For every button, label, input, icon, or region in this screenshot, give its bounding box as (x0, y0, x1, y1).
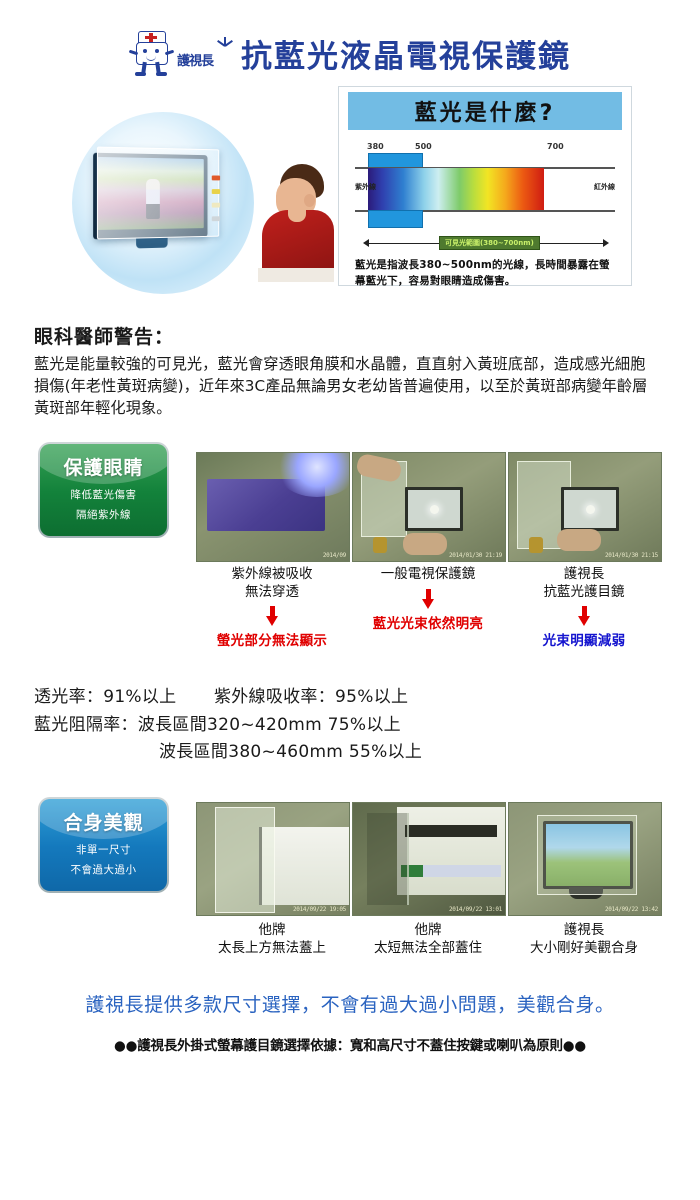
warning-heading: 眼科醫師警告： (34, 322, 654, 349)
brand-logo: 護視長 (129, 31, 235, 75)
page-header: 護視長 抗藍光液晶電視保護鏡 (0, 22, 700, 84)
warning-body: 藍光是能量較強的可見光，藍光會穿透眼角膜和水晶體，直直射入黃班底部，造成感光細胞… (34, 354, 654, 420)
badge-eye-sub2: 隔絕紫外線 (76, 507, 131, 522)
product-page: 護視長 抗藍光液晶電視保護鏡 藍光是什麼? 380 500 (0, 0, 700, 1200)
hero-illustration (62, 108, 332, 298)
photo-timestamp: 2014/09/22 13:01 (449, 906, 502, 913)
down-arrow-icon (578, 606, 591, 626)
visible-range-indicator: 可見光範圍(380~700nm) (355, 238, 615, 250)
caption-perfect-fit: 護視長 大小剛好美觀合身 (508, 922, 660, 957)
photo-timestamp: 2014/09 (323, 552, 346, 559)
photo-timestamp: 2014/01/30 21:15 (605, 552, 658, 559)
badge-perfect-fit: 合身美觀 非單一尺寸 不會過大過小 (38, 797, 169, 893)
caption-line2: 抗藍光護目鏡 (508, 584, 660, 602)
photo-ordinary-protector: 2014/01/30 21:19 (352, 452, 506, 562)
caption-line2: 太長上方無法蓋上 (196, 940, 348, 958)
caption-line1: 他牌 (196, 922, 348, 940)
blue-light-panel-title: 藍光是什麼? (348, 92, 622, 130)
caption-uv-absorbed: 紫外線被吸收 無法穿透 螢光部分無法顯示 (196, 566, 348, 649)
screen-protector-overlay (97, 147, 219, 240)
footer-tagline: 護視長提供多款尺寸選擇，不會有過大過小問題，美觀合身。 (0, 990, 700, 1017)
photo-banknote-uv: 2014/09 (196, 452, 350, 562)
photo-timestamp: 2014/09/22 19:05 (293, 906, 346, 913)
caption-line2: 無法穿透 (196, 584, 348, 602)
page-title: 抗藍光液晶電視保護鏡 (241, 31, 571, 76)
footer-selection-rule: ●●護視長外掛式螢幕護目鏡選擇依據：寬和高尺寸不蓋住按鍵或喇叭為原則●● (0, 1034, 700, 1054)
blue-light-title-text: 藍光是什麼? (415, 95, 556, 127)
caption-line1: 紫外線被吸收 (196, 566, 348, 584)
caption-result: 螢光部分無法顯示 (196, 629, 348, 649)
caption-line1: 護視長 (508, 566, 660, 584)
caption-line2: 大小剛好美觀合身 (508, 940, 660, 958)
badge-eye-protection: 保護眼睛 降低藍光傷害 隔絕紫外線 (38, 442, 169, 538)
visible-range-tag: 可見光範圍(380~700nm) (439, 236, 540, 250)
caption-line1: 護視長 (508, 922, 660, 940)
caption-result: 光束明顯減弱 (508, 629, 660, 649)
doctor-warning-block: 眼科醫師警告： 藍光是能量較強的可見光，藍光會穿透眼角膜和水晶體，直直射入黃班底… (34, 322, 654, 420)
uv-label: 紫外線 (355, 182, 376, 192)
caption-line1: 他牌 (352, 922, 504, 940)
ir-label: 紅外線 (594, 182, 615, 192)
spectrum-tick-380: 380 (367, 142, 384, 151)
sparkle-icon (215, 37, 235, 57)
photo-anti-blue-protector: 2014/01/30 21:15 (508, 452, 662, 562)
badge-fit-title: 合身美觀 (63, 808, 143, 835)
photo-other-brand-too-long: 2014/09/22 19:05 (196, 802, 350, 916)
spec-row-3: 波長區間380~460mm 55%以上 (34, 739, 654, 767)
spec-row-1: 透光率：91%以上 紫外線吸收率：95%以上 (34, 684, 654, 712)
badge-fit-sub1: 非單一尺寸 (76, 842, 131, 857)
badge-eye-sub1: 降低藍光傷害 (71, 487, 137, 502)
blue-light-caption: 藍光是指波長380~500nm的光線，長時間暴露在螢幕藍光下，容易對眼睛造成傷害… (355, 257, 615, 290)
brand-name: 護視長 (177, 50, 213, 75)
badge-eye-title: 保護眼睛 (63, 453, 143, 480)
visible-spectrum-gradient (368, 168, 544, 210)
specifications-block: 透光率：91%以上 紫外線吸收率：95%以上 藍光阻隔率：波長區間320~420… (34, 684, 654, 767)
photo-hushichang-perfect-fit: 2014/09/22 13:42 (508, 802, 662, 916)
caption-line1: 一般電視保護鏡 (352, 566, 504, 584)
caption-too-short: 他牌 太短無法全部蓋住 (352, 922, 504, 957)
spec-row-2: 藍光阻隔率：波長區間320~420mm 75%以上 (34, 712, 654, 740)
light-spectrum-diagram: 380 500 700 紫外線 紅外線 (355, 142, 615, 224)
caption-line2: 太短無法全部蓋住 (352, 940, 504, 958)
blue-band-highlight-bottom (368, 210, 423, 228)
down-arrow-icon (422, 589, 435, 609)
photo-timestamp: 2014/09/22 13:42 (605, 906, 658, 913)
down-arrow-icon (266, 606, 279, 626)
spec-uv-absorption: 紫外線吸收率：95%以上 (214, 687, 408, 707)
caption-hushichang-protector: 護視長 抗藍光護目鏡 光束明顯減弱 (508, 566, 660, 649)
child-watching-tv-icon (258, 164, 334, 282)
badge-fit-sub2: 不會過大過小 (71, 862, 137, 877)
photo-other-brand-too-short: 2014/09/22 13:01 (352, 802, 506, 916)
spectrum-tick-700: 700 (547, 142, 564, 151)
spec-transmittance: 透光率：91%以上 (34, 687, 177, 707)
caption-result: 藍光光束依然明亮 (352, 612, 504, 632)
photo-timestamp: 2014/01/30 21:19 (449, 552, 502, 559)
caption-ordinary-protector: 一般電視保護鏡 藍光光束依然明亮 (352, 566, 504, 632)
caption-too-long: 他牌 太長上方無法蓋上 (196, 922, 348, 957)
nurse-mascot-icon (129, 31, 175, 75)
blue-light-info-panel: 藍光是什麼? 380 500 700 紫外線 紅外線 可見光範圍(380~700… (338, 86, 632, 286)
spectrum-tick-500: 500 (415, 142, 432, 151)
